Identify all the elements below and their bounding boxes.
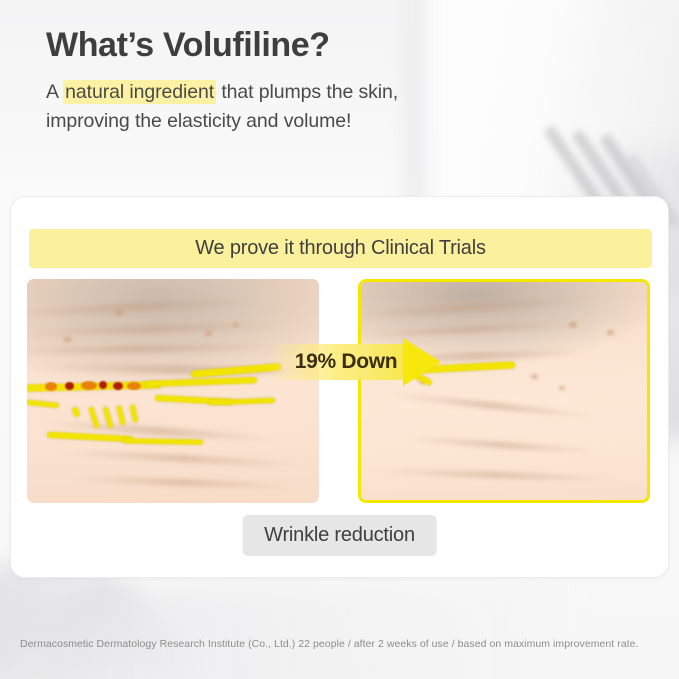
clinical-trial-banner: We prove it through Clinical Trials	[29, 229, 652, 268]
subtitle-highlight: natural ingredient	[63, 80, 216, 104]
improvement-arrow-label: 19% Down	[286, 344, 406, 380]
wrinkle-marker-peak	[113, 382, 123, 390]
subtitle-line-two: improving the elasticity and volume!	[46, 110, 351, 132]
promo-page: What’s Volufiline? A natural ingredient …	[0, 0, 679, 679]
clinical-trial-card: We prove it through Clinical Trials	[10, 196, 669, 578]
skin-spot	[115, 311, 123, 316]
header-block: What’s Volufiline? A natural ingredient …	[46, 24, 606, 137]
background-sheen	[150, 585, 580, 679]
before-skin-photo	[27, 279, 319, 503]
before-after-comparison: 19% Down	[27, 279, 650, 503]
arrow-head-icon	[403, 338, 441, 386]
wrinkle-marker-hot	[127, 382, 141, 390]
wrinkle-marker-peak	[65, 382, 74, 390]
skin-spot	[205, 331, 212, 336]
improvement-arrow: 19% Down	[268, 338, 443, 386]
after-skin-photo	[358, 279, 650, 503]
wrinkle-reduction-caption: Wrinkle reduction	[242, 515, 437, 556]
clinical-trial-banner-label: We prove it through Clinical Trials	[195, 237, 486, 260]
wrinkle-marker-hot	[45, 382, 57, 391]
page-title: What’s Volufiline?	[46, 24, 606, 67]
skin-spot	[569, 322, 577, 328]
subtitle-text-before: A	[46, 81, 63, 103]
page-subtitle: A natural ingredient that plumps the ski…	[46, 78, 606, 137]
wrinkle-reduction-label: Wrinkle reduction	[264, 524, 415, 546]
skin-spot	[559, 386, 565, 390]
wrinkle-marker-hot	[81, 381, 97, 390]
skin-spot	[233, 323, 239, 327]
wrinkle-marker-peak	[99, 381, 107, 389]
skin-spot	[63, 337, 72, 342]
subtitle-text-after: that plumps the skin,	[216, 81, 398, 103]
footnote: Dermacosmetic Dermatology Research Insti…	[20, 638, 665, 650]
skin-spot	[607, 330, 614, 335]
skin-spot	[531, 374, 538, 379]
